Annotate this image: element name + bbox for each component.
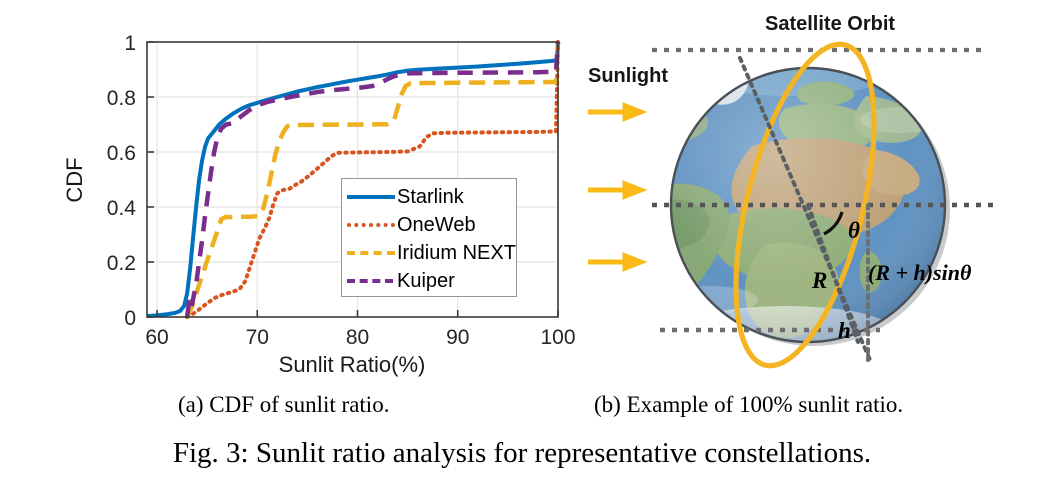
radius-label: R: [811, 268, 827, 293]
projection-label: (R + h)sinθ: [868, 260, 972, 285]
svg-text:90: 90: [446, 326, 469, 349]
earth-diagram-panel: Satellite Orbit Sunlight θ R (R + h)sinθ…: [580, 0, 1044, 382]
subcaption-a: (a) CDF of sunlit ratio.: [178, 392, 389, 418]
legend-item-starlink: Starlink: [342, 183, 516, 211]
figure-caption: Fig. 3: Sunlit ratio analysis for repres…: [0, 437, 1044, 470]
subcaption-b: (b) Example of 100% sunlit ratio.: [594, 392, 903, 418]
legend-swatch-oneweb: [347, 216, 395, 234]
svg-text:100: 100: [540, 326, 575, 349]
svg-text:0.6: 0.6: [107, 142, 136, 165]
legend-swatch-iridium-next: [347, 244, 395, 262]
theta-label: θ: [848, 218, 860, 243]
legend-item-iridium-next: Iridium NEXT: [342, 239, 516, 267]
globe-landmasses: [632, 28, 945, 354]
legend-label-iridium-next: Iridium NEXT: [397, 243, 516, 263]
svg-text:80: 80: [346, 326, 369, 349]
svg-text:0: 0: [124, 307, 136, 330]
y-axis-title: CDF: [62, 157, 87, 202]
earth-diagram-svg: Satellite Orbit Sunlight θ R (R + h)sinθ…: [580, 0, 1044, 382]
legend-label-kuiper: Kuiper: [397, 271, 455, 291]
svg-text:0.2: 0.2: [107, 252, 136, 275]
legend-item-kuiper: Kuiper: [342, 267, 516, 295]
altitude-label: h: [838, 318, 851, 343]
legend-swatch-kuiper: [347, 272, 395, 290]
svg-text:0.8: 0.8: [107, 87, 136, 110]
legend-swatch-starlink: [347, 188, 395, 206]
legend-item-oneweb: OneWeb: [342, 211, 516, 239]
legend-label-starlink: Starlink: [397, 187, 464, 207]
satellite-orbit-label: Satellite Orbit: [765, 13, 895, 35]
sunlight-label: Sunlight: [588, 65, 668, 87]
legend-label-oneweb: OneWeb: [397, 215, 476, 235]
cdf-chart-panel: 60708090100 00.20.40.60.81 Sunlit Ratio(…: [0, 0, 580, 382]
x-axis-title: Sunlit Ratio(%): [279, 352, 426, 377]
svg-text:1: 1: [124, 32, 136, 55]
svg-text:60: 60: [145, 326, 168, 349]
svg-text:70: 70: [246, 326, 269, 349]
svg-text:0.4: 0.4: [107, 197, 137, 220]
chart-legend: Starlink OneWeb Iridium NEXT Kuiper: [341, 178, 517, 297]
